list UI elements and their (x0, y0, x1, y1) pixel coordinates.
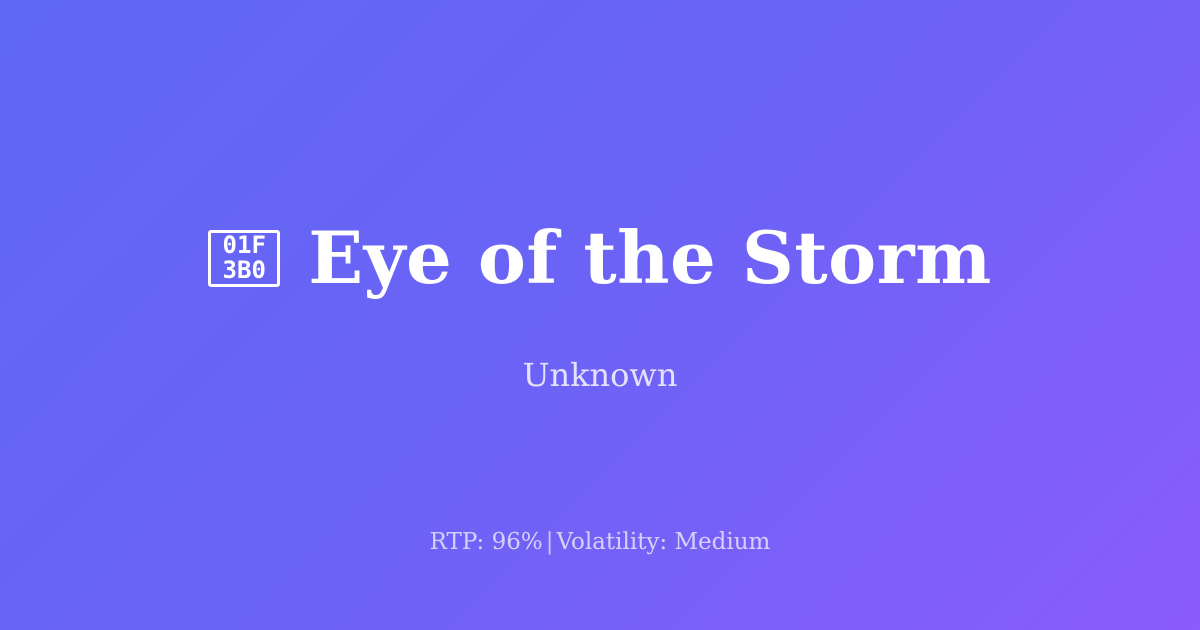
og-share-card: 01F 3B0 Eye of the Storm Unknown RTP: 96… (0, 0, 1200, 630)
title-row: 01F 3B0 Eye of the Storm (168, 218, 1032, 298)
meta-separator: | (543, 529, 557, 555)
game-provider-subtitle: Unknown (523, 356, 678, 394)
game-meta-footer: RTP: 96%|Volatility: Medium (0, 528, 1200, 556)
rtp-value: 96% (492, 529, 543, 555)
volatility-value: Medium (675, 529, 771, 555)
slot-machine-emoji-icon: 01F 3B0 (208, 230, 280, 287)
tofu-hex-top: 01F (223, 233, 266, 258)
hero-block: 01F 3B0 Eye of the Storm Unknown (0, 218, 1200, 394)
tofu-hex-bottom: 3B0 (223, 258, 266, 283)
volatility-label: Volatility: (556, 529, 667, 555)
rtp-label: RTP: (430, 529, 485, 555)
game-title: Eye of the Storm (308, 218, 992, 298)
